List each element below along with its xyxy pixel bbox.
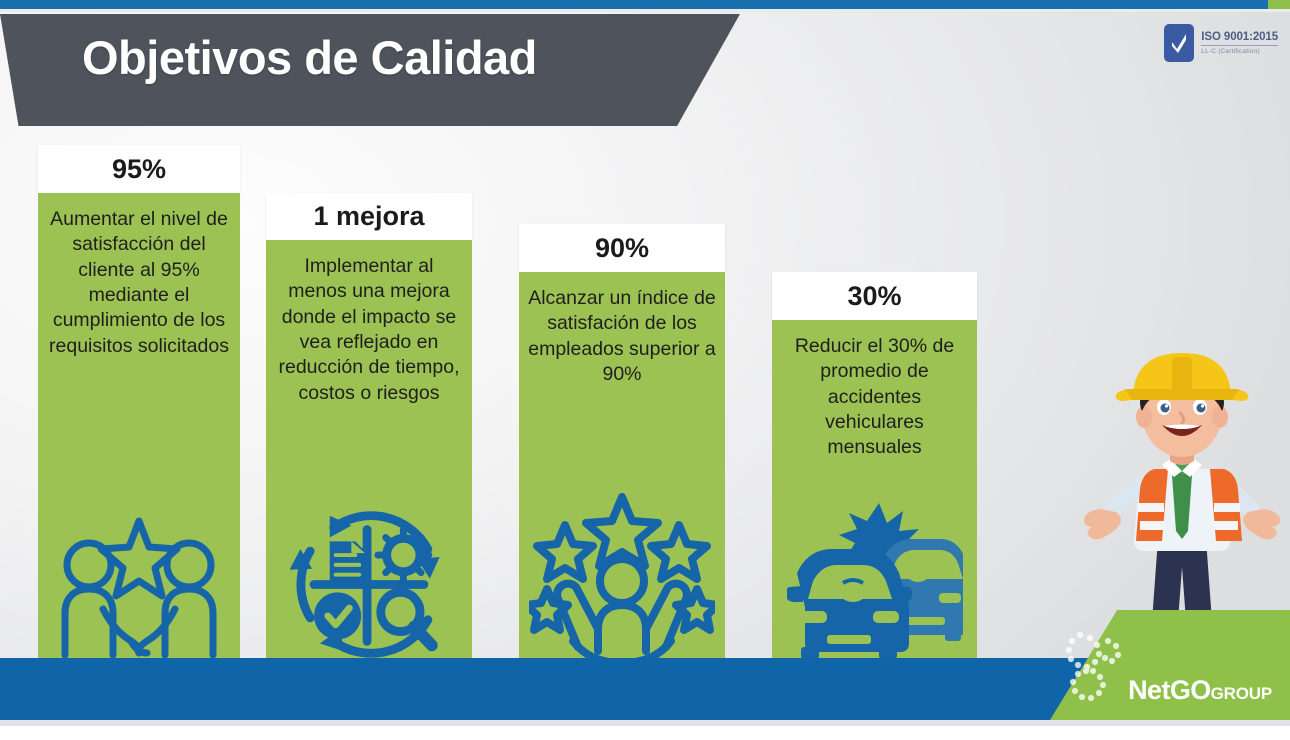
person-five-stars-icon — [519, 489, 725, 661]
objective-metric: 1 mejora — [266, 193, 472, 240]
continuous-improvement-cycle-icon — [266, 506, 472, 661]
footer-bottom-edge — [0, 726, 1290, 740]
top-rail-blue — [0, 0, 1268, 9]
objective-metric: 95% — [38, 145, 240, 193]
car-crash-icon — [772, 501, 977, 661]
objective-metric: 30% — [772, 272, 977, 320]
objective-body: Aumentar el nivel de satisfacción del cl… — [38, 193, 240, 661]
iso-standard-label: ISO 9001:2015 — [1201, 31, 1278, 46]
check-mark-icon — [1164, 24, 1194, 62]
brand-suffix: GROUP — [1211, 684, 1272, 704]
top-rail-divider — [0, 9, 1290, 12]
objective-card-1[interactable]: 95% Aumentar el nivel de satisfacción de… — [38, 145, 240, 661]
slide-canvas: Objetivos de Calidad ISO 9001:2015 LL-C … — [0, 0, 1290, 740]
brand-name: NetGO — [1128, 677, 1211, 704]
objective-card-4[interactable]: 30% Reducir el 30% de promedio de accide… — [772, 272, 977, 661]
objective-body: Alcanzar un índice de satisfación de los… — [519, 272, 725, 661]
top-rail-green — [1268, 0, 1290, 9]
objective-metric: 90% — [519, 224, 725, 272]
objective-description: Aumentar el nivel de satisfacción del cl… — [38, 207, 240, 359]
objective-description: Alcanzar un índice de satisfación de los… — [519, 286, 725, 387]
dotted-circles-logo-icon — [1060, 627, 1130, 706]
objective-description: Reducir el 30% de promedio de accidentes… — [772, 334, 977, 461]
objective-description: Implementar al menos una mejora donde el… — [266, 254, 472, 406]
page-title: Objetivos de Calidad — [82, 34, 537, 81]
objective-card-2[interactable]: 1 mejora Implementar al menos una mejora… — [266, 193, 472, 661]
iso-certification-badge: ISO 9001:2015 LL-C (Certification) — [1164, 24, 1278, 62]
brand-logo: NetGO GROUP — [1128, 677, 1272, 704]
objective-card-3[interactable]: 90% Alcanzar un índice de satisfación de… — [519, 224, 725, 661]
iso-body-label: LL-C (Certification) — [1201, 46, 1278, 55]
handshake-star-icon — [38, 513, 240, 661]
objective-body: Implementar al menos una mejora donde el… — [266, 240, 472, 661]
objective-body: Reducir el 30% de promedio de accidentes… — [772, 320, 977, 661]
